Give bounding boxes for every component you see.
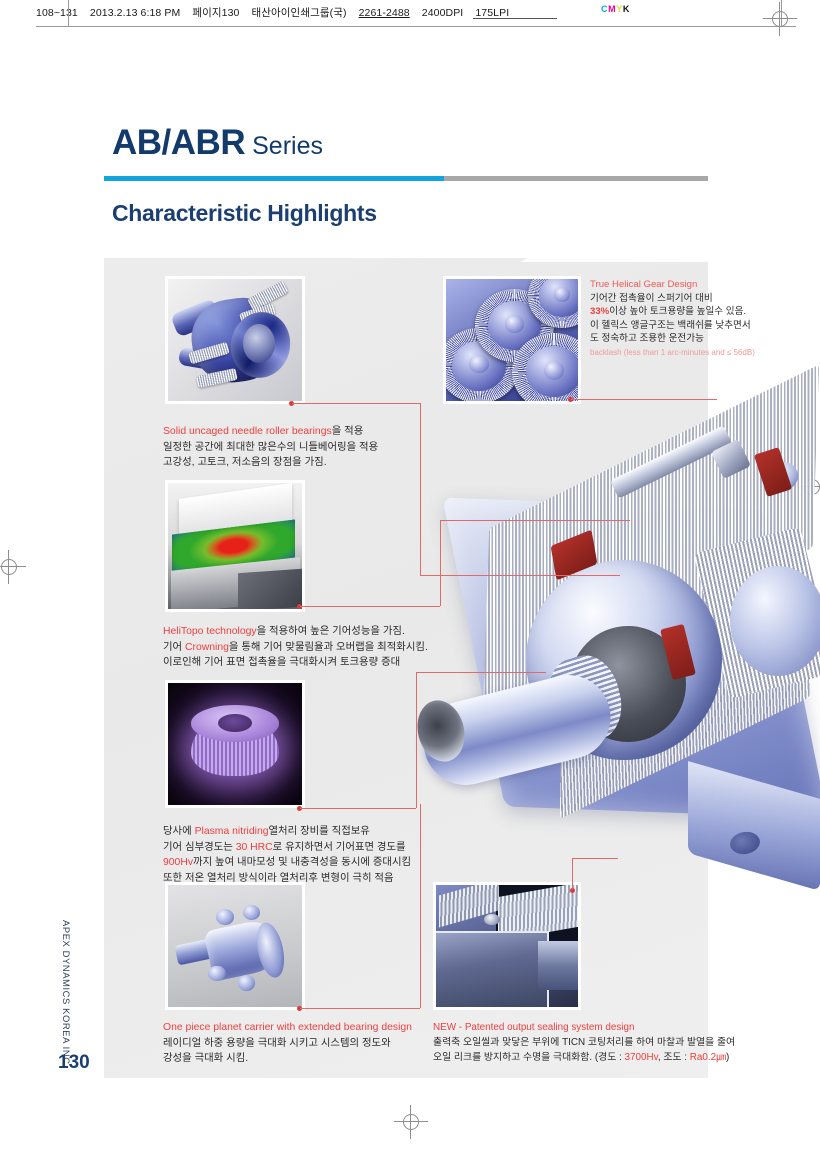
sealing-housing [436,931,549,1009]
caption-plasma-line3-post: 까지 높여 내마모성 및 내충격성을 동시에 증대시킴 [193,857,411,868]
caption-helitopo: HeliTopo technology을 적용하여 높은 기어성능을 가짐. 기… [163,624,428,671]
registration-mark-top [763,2,797,36]
title-rule [104,176,708,181]
caption-helitopo-line2: 기어 Crowning을 통해 기어 맞물림율과 오버랩을 최적화시킴. [163,640,428,656]
caption-helical-line1: 기어간 접촉율이 스퍼기어 대비 [590,292,755,306]
sealing-block [538,941,578,990]
caption-plasma-line2-pre: 기어 심부경도는 [163,842,236,853]
caption-helical-line4: 도 정숙하고 조용한 운전가능 [590,332,755,346]
caption-bearings-line2: 일정한 공간에 최대한 많은수의 니들베어링을 적용 [163,440,378,456]
caption-helitopo-line1: HeliTopo technology을 적용하여 높은 기어성능을 가짐. [163,624,428,640]
callout-line-helical-h [571,399,717,400]
trim-rule-top [36,26,796,27]
callout-line-helitopo-h2 [440,520,630,521]
callout-line-sealing-v [572,858,573,890]
caption-carrier-line3: 강성을 극대화 시킴. [163,1051,412,1067]
caption-plasma-line1-post: 열처리 장비를 직접보유 [269,826,370,837]
caption-sealing-line3: 오일 리크를 방지하고 수명을 극대화함. (경도 : 3700Hv, 조도 :… [433,1050,735,1065]
callout-line-bearings-v [420,403,421,575]
caption-helical-line2: 33%이상 높아 토크용량을 높일수 있음. [590,305,755,319]
caption-helitopo-heading-suffix: 을 적용하여 높은 기어성능을 가짐. [257,626,405,637]
company-name-vertical: APEX DYNAMICS KOREA INC. [58,920,72,1060]
caption-helical-gear: True Helical Gear Design 기어간 접촉율이 스퍼기어 대… [590,278,755,360]
callout-line-plasma-h [300,808,416,809]
caption-sealing-line3-post: ) [726,1052,729,1063]
print-slug: 108~131 2013.2.13 6:18 PM 페이지130 태산아이인쇄그… [36,5,736,19]
title-series: Series [252,132,323,160]
nitrided-gear-bore [218,714,253,732]
page-title: AB/ABRSeries [112,123,323,163]
planet-pin-1 [216,909,233,925]
caption-plasma-line4: 또한 저온 열처리 방식이라 열처리후 변형이 극히 적음 [163,871,411,887]
caption-plasma-hrc: 30 HRC [236,842,273,853]
slug-pagerange: 108~131 [36,7,78,19]
caption-needle-bearings: Solid uncaged needle roller bearings을 적용… [163,424,378,471]
photo-helical-gears [443,276,581,404]
slug-phone: 2261-2488 [359,7,410,19]
caption-plasma-hv: 900Hv [163,857,193,868]
callout-line-carrier-h [300,1008,420,1009]
caption-helitopo-heading: HeliTopo technology [163,626,257,637]
registration-mark-left [0,550,26,584]
caption-helical-heading: True Helical Gear Design [590,278,755,292]
caption-sealing-line3-mid: , 조도 : [658,1052,690,1063]
caption-bearings-line3: 고강성, 고토크, 저소음의 장점을 가짐. [163,455,378,471]
caption-helical-line3: 이 헬릭스 앵글구조는 백래쉬를 낮추면서 [590,319,755,333]
photo-helitopo-contact-map [165,480,305,612]
cmyk-m: M [608,4,616,14]
caption-plasma-line3: 900Hv까지 높여 내마모성 및 내충격성을 동시에 증대시킴 [163,855,411,871]
caption-bearings-line1: Solid uncaged needle roller bearings을 적용 [163,424,378,440]
caption-sealing-line2: 출력축 오일씰과 맞닿은 부위에 TICN 코팅처리를 하여 마찰과 발열을 줄… [433,1035,735,1050]
photo-plasma-nitriding-gear [165,680,305,808]
callout-line-carrier-v [420,804,421,1008]
cmyk-k: K [623,4,630,14]
slug-printer: 태산아이인쇄그룹(국) [252,7,347,19]
caption-helitopo-crowning: Crowning [185,642,229,653]
registration-mark-bottom [394,1105,428,1139]
photo-output-sealing-system [433,882,581,1010]
catalog-page: 108~131 2013.2.13 6:18 PM 페이지130 태산아이인쇄그… [0,0,820,1150]
photo-needle-roller-bearings [165,276,305,404]
title-rule-accent [104,176,444,181]
caption-helical-pct: 33% [590,306,609,317]
caption-helitopo-line3: 이로인해 기어 표면 접촉율을 극대화시켜 토크용량 증대 [163,655,428,671]
caption-carrier-heading: One piece planet carrier with extended b… [163,1020,412,1036]
caption-helical-note: backlash (less than 1 arc-minutes and ≤ … [590,346,755,360]
caption-helitopo-line2-post: 을 통해 기어 맞물림율과 오버랩을 최적화시킴. [229,642,428,653]
page-subtitle: Characteristic Highlights [112,200,377,227]
cmyk-colorbar: CMYK [601,4,630,14]
cmyk-y: Y [616,4,623,14]
caption-plasma-line1: 당사에 Plasma nitriding열처리 장비를 직접보유 [163,824,411,840]
caption-plasma-term: Plasma nitriding [195,826,269,837]
caption-plasma-line1-pre: 당사에 [163,826,195,837]
caption-sealing-heading: NEW - Patented output sealing system des… [433,1020,735,1035]
caption-plasma-line2-post: 로 유지하면서 기어표면 경도를 [273,842,406,853]
callout-line-plasma-v [416,672,417,808]
slug-dpi: 2400DPI [422,7,464,19]
caption-carrier-line2: 레이디얼 하중 용량을 극대화 시키고 시스템의 정도와 [163,1036,412,1052]
trim-rule-left [68,0,69,26]
callout-line-bearings-h [292,403,420,404]
slug-underline [473,18,557,19]
caption-helitopo-line2-pre: 기어 [163,642,185,653]
panel-corner-notch [520,222,708,262]
slug-timestamp: 2013.2.13 6:18 PM [90,7,180,19]
callout-line-sealing-h [572,858,618,859]
caption-sealing-roughness: Ra0.2㎛ [690,1052,726,1063]
planet-pin-4 [238,975,255,991]
page-number: 130 [58,1052,90,1074]
slug-pagelabel: 페이지130 [192,7,239,19]
callout-line-helitopo-v [440,520,441,606]
caption-plasma-line2: 기어 심부경도는 30 HRC로 유지하면서 기어표면 경도를 [163,840,411,856]
photo-planet-carrier [165,882,305,1010]
title-model: AB/ABR [112,123,245,162]
callout-line-bearings-h2 [420,575,620,576]
planet-pin-3 [208,966,225,982]
gear-shadow-region [238,569,302,611]
callout-line-plasma-h2 [416,672,546,673]
caption-sealing-hardness: 3700Hv [625,1052,658,1063]
caption-plasma-nitriding: 당사에 Plasma nitriding열처리 장비를 직접보유 기어 심부경도… [163,824,411,886]
caption-helical-line2-rest: 이상 높아 토크용량을 높일수 있음. [609,306,746,317]
caption-planet-carrier: One piece planet carrier with extended b… [163,1020,412,1067]
caption-sealing-system: NEW - Patented output sealing system des… [433,1020,735,1065]
caption-bearings-heading: Solid uncaged needle roller bearings [163,426,332,437]
caption-bearings-heading-suffix: 을 적용 [332,426,364,437]
callout-line-helitopo-h [300,606,440,607]
bevel-cone [730,566,820,676]
caption-sealing-line3-pre: 오일 리크를 방지하고 수명을 극대화함. (경도 : [433,1052,625,1063]
